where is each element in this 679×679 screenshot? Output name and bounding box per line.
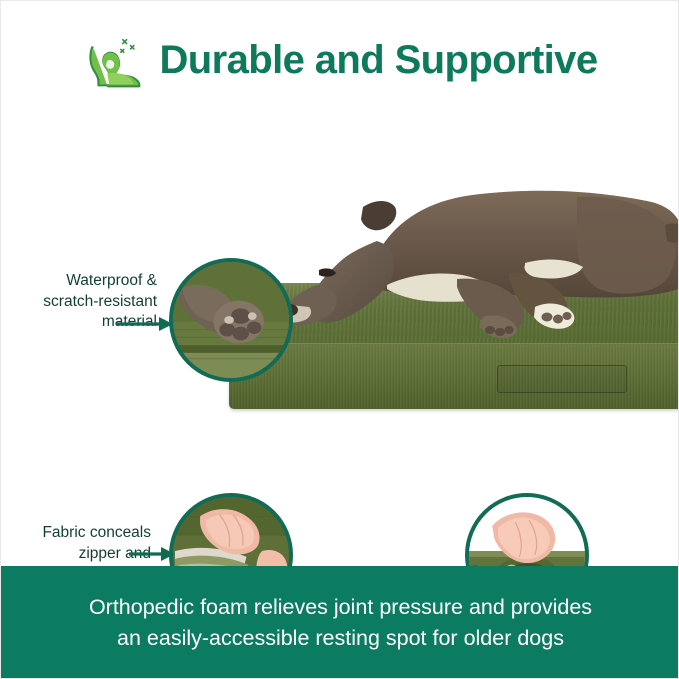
flexing-bicep-icon xyxy=(84,31,146,93)
product-photo: Waterproof & scratch-resistant material … xyxy=(1,119,679,566)
built-in-handle-slot xyxy=(497,365,627,393)
callout-waterproof-line2: scratch-resistant xyxy=(7,292,157,313)
dog-photo xyxy=(247,167,679,343)
footer-banner: Orthopedic foam relieves joint pressure … xyxy=(1,566,679,679)
hand-gripping-handle-inset xyxy=(465,493,589,566)
callout-zipper-line1: Fabric conceals xyxy=(3,523,151,544)
hand-opening-zipper-inset xyxy=(169,493,293,566)
banner-line-1: Orthopedic foam relieves joint pressure … xyxy=(89,592,592,623)
callout-waterproof-line1: Waterproof & xyxy=(7,271,157,292)
header: Durable and Supportive xyxy=(1,1,679,119)
infographic-canvas: Durable and Supportive xyxy=(0,0,679,679)
arrow-right-icon xyxy=(129,543,177,565)
bed-front-face xyxy=(229,345,679,409)
arrow-right-icon xyxy=(117,313,175,335)
page-title: Durable and Supportive xyxy=(160,40,598,80)
banner-line-2: an easily-accessible resting spot for ol… xyxy=(117,623,564,654)
paw-on-bed-inset xyxy=(169,258,293,382)
